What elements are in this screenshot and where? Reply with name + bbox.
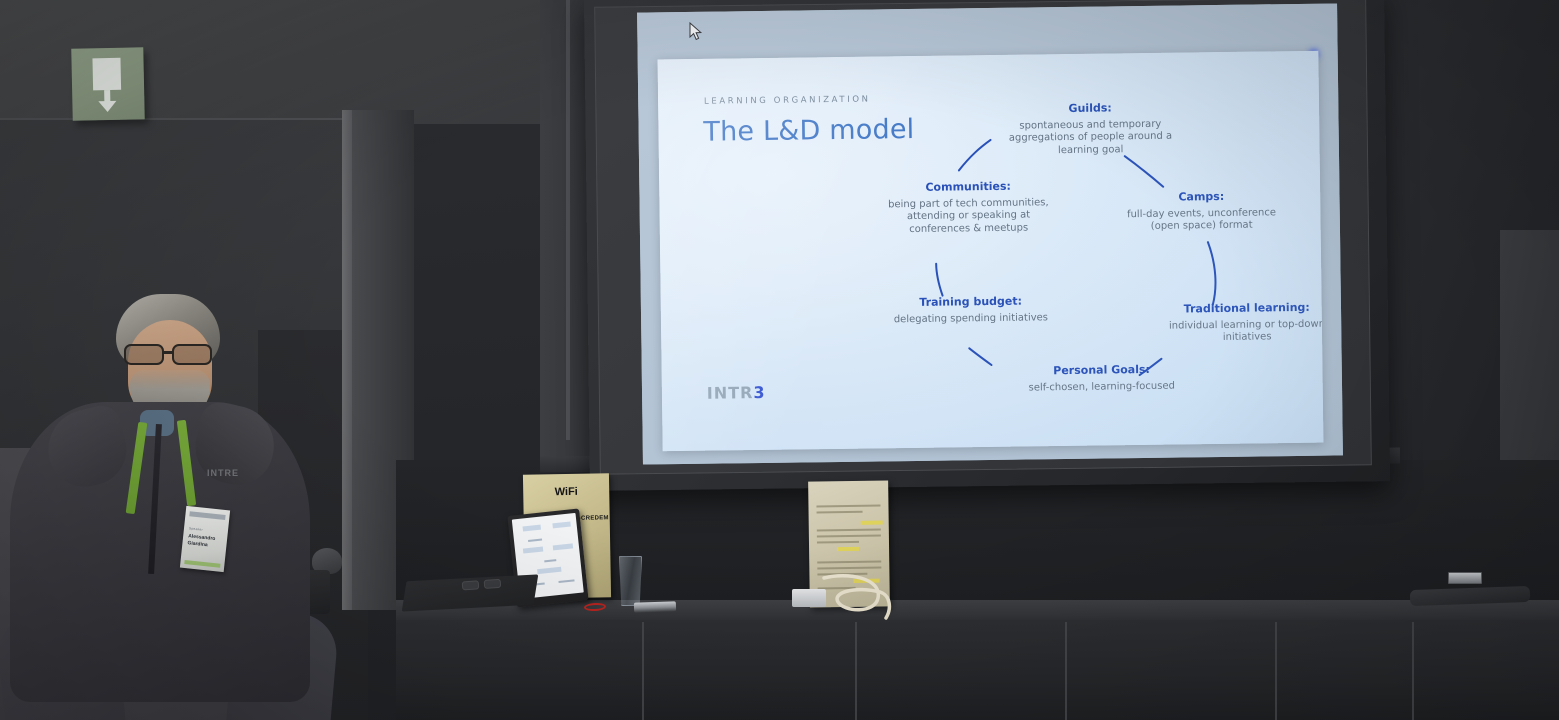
diagram-node-camps: Camps: full-day events, unconference (op… — [1111, 189, 1292, 234]
credenza-door-seam — [642, 622, 644, 720]
credenza-door-seam — [1412, 622, 1414, 720]
node-description: full-day events, unconference (open spac… — [1111, 207, 1291, 235]
node-description: being part of tech communities, attendin… — [887, 197, 1049, 237]
exit-door-glyph — [92, 58, 121, 91]
wall-outlet-plate — [1448, 572, 1482, 584]
wifi-logo-text: WiFi — [555, 486, 578, 498]
small-electronic-device[interactable] — [634, 601, 676, 612]
node-label: Guilds: — [990, 100, 1190, 116]
power-cable — [820, 568, 894, 622]
logo-accent: 3 — [753, 383, 765, 402]
logo-text: INTR — [707, 383, 754, 403]
diagram-node-training-budget: Training budget: delegating spending ini… — [891, 294, 1051, 326]
node-label: Training budget: — [891, 294, 1051, 310]
credenza-door-seam — [855, 622, 857, 720]
diagram-node-traditional-learning: Traditional learning: individual learnin… — [1157, 300, 1324, 345]
credenza-door-seam — [1275, 622, 1277, 720]
node-label: Camps: — [1111, 189, 1291, 205]
plastic-cup — [619, 556, 642, 606]
node-label: Traditional learning: — [1157, 300, 1324, 316]
node-description: spontaneous and temporary aggregations o… — [990, 118, 1190, 158]
node-label: Communities: — [887, 179, 1049, 195]
glasses-lens-left — [462, 580, 480, 590]
diagram-node-guilds: Guilds: spontaneous and temporary aggreg… — [990, 100, 1191, 158]
credenza-body — [396, 620, 1559, 720]
emergency-exit-sign-icon — [71, 47, 144, 120]
exit-arrow-head — [98, 101, 116, 112]
wall-strip-line — [566, 0, 570, 440]
presentation-slide[interactable]: LEARNING ORGANIZATION The L&D model — [657, 51, 1323, 452]
node-description: individual learning or top-down initiati… — [1157, 318, 1324, 346]
node-description: delegating spending initiatives — [891, 312, 1051, 327]
node-label: Personal Goals: — [991, 362, 1211, 379]
diagram-node-personal-goals: Personal Goals: self-chosen, learning-fo… — [991, 362, 1211, 395]
mouse-pointer-icon — [689, 22, 703, 42]
slide-brand-logo: INTR3 — [707, 383, 766, 403]
glasses-lens-right — [484, 579, 502, 589]
credenza-door-seam — [1065, 622, 1067, 720]
room-photo-scene: LEARNING ORGANIZATION The L&D model — [0, 0, 1559, 720]
diagram-node-communities: Communities: being part of tech communit… — [887, 179, 1050, 237]
seated-person-lower — [0, 282, 350, 720]
